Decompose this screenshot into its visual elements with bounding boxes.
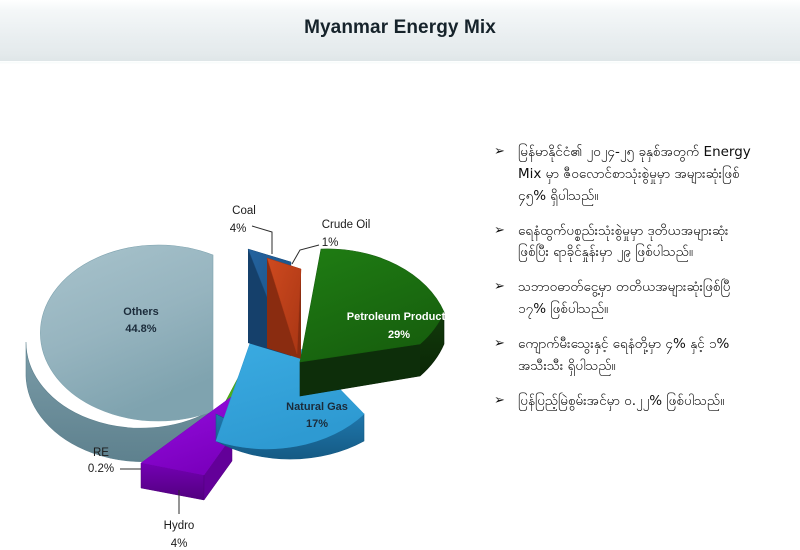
bullet-arrow-icon: ➢ <box>494 222 505 238</box>
bullet-arrow-icon: ➢ <box>494 143 505 159</box>
bullet-text-4: ကျောက်မီးသွေးနှင့် ရေနံတို့မှာ ၄% နှင့် … <box>518 334 800 378</box>
notes-panel: ➢ မြန်မာနိုင်ငံ၏ ၂၀၂၄-၂၅ ခုနှစ်အတွက် Ene… <box>492 66 800 550</box>
bullet-item-2: ➢ ရေနံထွက်ပစ္စည်းသုံးစွဲမှုမှာ ဒုတိယအမျာ… <box>492 221 800 265</box>
bullet-text-1: မြန်မာနိုင်ငံ၏ ၂၀၂၄-၂၅ ခုနှစ်အတွက် Energ… <box>518 142 800 208</box>
bullet-item-4: ➢ ကျောက်မီးသွေးနှင့် ရေနံတို့မှာ ၄% နှင့… <box>492 334 800 378</box>
slice-value-petroleum-products: 29% <box>388 329 410 341</box>
callout-label-hydro: Hydro <box>164 520 195 532</box>
callout-label-coal: Coal <box>232 205 256 217</box>
bullet-arrow-icon: ➢ <box>494 278 505 294</box>
bullet-text-3: သဘာဝဓာတ်ငွေ့မှာ တတိယအများဆုံးဖြစ်ပြီ ၁၇%… <box>518 277 800 321</box>
slice-label-natural-gas: Natural Gas <box>286 401 348 413</box>
slice-label-others: Others <box>123 306 158 318</box>
callout-label-crude-oil: Crude Oil <box>322 219 371 231</box>
bullet-list: ➢ မြန်မာနိုင်ငံ၏ ၂၀၂၄-၂၅ ခုနှစ်အတွက် Ene… <box>492 142 800 426</box>
pie-chart: Others 44.8% RE 0.2% Hydro 4% <box>0 66 490 550</box>
callout-value-hydro: 4% <box>171 538 188 550</box>
pie-chart-svg: Others 44.8% RE 0.2% Hydro 4% <box>0 66 490 550</box>
slice-label-petroleum-products: Petroleum Products <box>347 311 452 323</box>
slide-body: Others 44.8% RE 0.2% Hydro 4% <box>0 66 800 550</box>
slide-header: Myanmar Energy Mix <box>0 0 800 62</box>
slice-value-others: 44.8% <box>125 323 156 335</box>
pie-slice-others[interactable]: Others 44.8% <box>26 245 215 462</box>
bullet-arrow-icon: ➢ <box>494 392 505 408</box>
callout-value-crude-oil: 1% <box>322 237 339 249</box>
callout-value-coal: 4% <box>230 223 247 235</box>
pie-slice-petroleum-products[interactable]: Petroleum Products 29% <box>300 249 451 396</box>
callout-value-re: 0.2% <box>88 463 114 475</box>
bullet-text-2: ရေနံထွက်ပစ္စည်းသုံးစွဲမှုမှာ ဒုတိယအများဆ… <box>518 221 800 265</box>
page-title: Myanmar Energy Mix <box>0 17 800 39</box>
callout-label-re: RE <box>93 447 109 459</box>
bullet-text-5: ပြန်ပြည့်မြဲစွမ်းအင်မှာ ၀.၂၂% ဖြစ်ပါသည်။ <box>518 391 800 413</box>
bullet-item-3: ➢ သဘာဝဓာတ်ငွေ့မှာ တတိယအများဆုံးဖြစ်ပြီ ၁… <box>492 277 800 321</box>
bullet-arrow-icon: ➢ <box>494 335 505 351</box>
bullet-item-1: ➢ မြန်မာနိုင်ငံ၏ ၂၀၂၄-၂၅ ခုနှစ်အတွက် Ene… <box>492 142 800 208</box>
slice-value-natural-gas: 17% <box>306 418 328 430</box>
bullet-item-5: ➢ ပြန်ပြည့်မြဲစွမ်းအင်မှာ ၀.၂၂% ဖြစ်ပါသည… <box>492 391 800 413</box>
